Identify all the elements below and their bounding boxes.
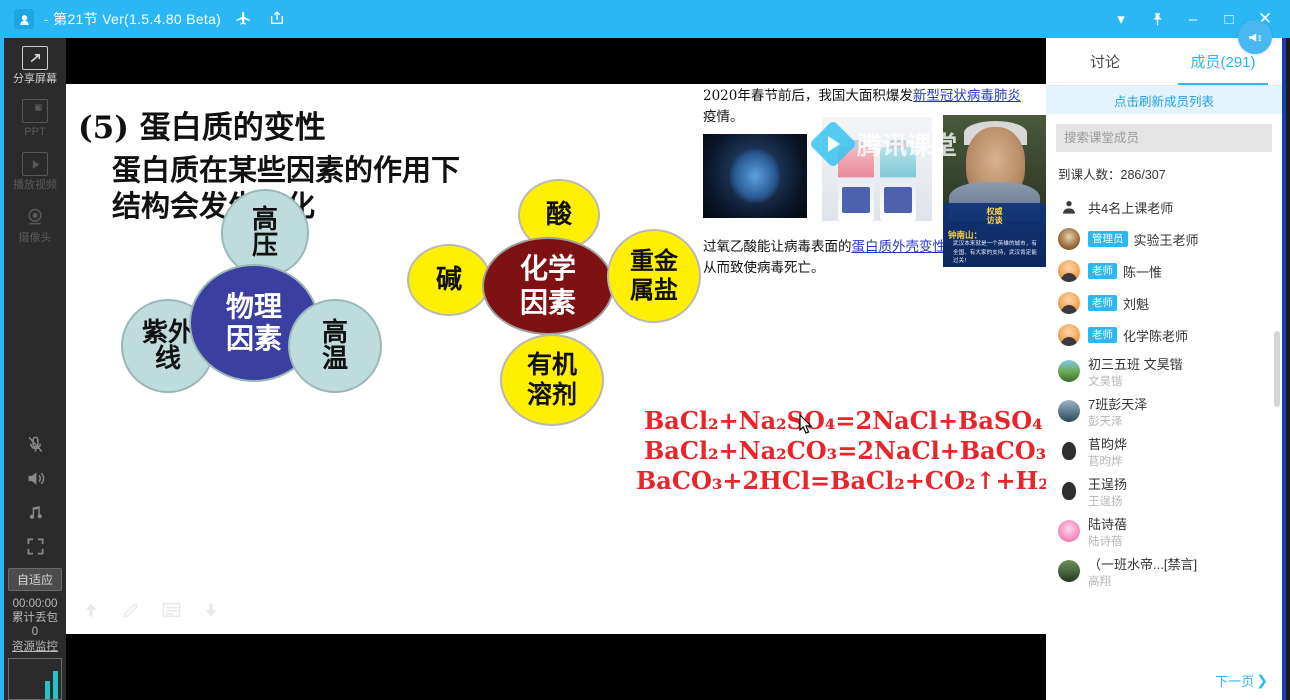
member-name: 初三五班 文昊锴 xyxy=(1088,354,1183,373)
next-page-button[interactable]: 下一页 ❯ xyxy=(1046,660,1282,700)
slide-subtitle-line1: 蛋白质在某些因素的作用下 xyxy=(112,152,582,188)
pin-icon[interactable] xyxy=(1140,0,1174,38)
resource-monitor-label[interactable]: 资源监控 xyxy=(2,640,68,654)
zhong-nanshan-portrait-image: 权威 访谈 钟南山： 武汉本来就是一个英雄的城市，有全国、有大家的支持，武汉肯定… xyxy=(943,115,1046,267)
portrait-caption-banner: 权威 访谈 钟南山： 武汉本来就是一个英雄的城市，有全国、有大家的支持，武汉肯定… xyxy=(943,203,1046,267)
bubble-chemical-factors: 化学 因素 xyxy=(482,237,614,335)
tab-members[interactable]: 成员(291) xyxy=(1164,38,1282,85)
presentation-stage: (5) 蛋白质的变性 蛋白质在某些因素的作用下 结构会发生变化 高 压 紫外 线… xyxy=(66,38,1046,700)
news-line3-link: 蛋白质外壳变性 xyxy=(852,239,947,255)
minimize-button[interactable]: – xyxy=(1176,0,1210,38)
member-list-scrollbar[interactable] xyxy=(1274,191,1280,660)
equation-1: BaCl₂+Na₂SO₄=2NaCl+BaSO₄↓ xyxy=(644,406,1046,435)
avatar xyxy=(1058,360,1080,382)
member-name: 陆诗蓓 xyxy=(1088,514,1127,533)
next-slide-icon[interactable] xyxy=(200,600,222,620)
airplane-icon[interactable] xyxy=(231,9,255,29)
connection-stats: 00:00:00 累计丢包 0 资源监控 xyxy=(2,597,68,657)
list-icon[interactable] xyxy=(160,600,182,620)
bubble-high-temperature: 高 温 xyxy=(288,299,382,393)
window-title: - 第21节 Ver(1.5.4.80 Beta) xyxy=(44,9,221,29)
list-item[interactable]: 初三五班 文昊锴 文昊锴 xyxy=(1058,351,1276,391)
slide-title: (5) 蛋白质的变性 xyxy=(78,102,326,147)
attendance-value: 286/307 xyxy=(1121,168,1166,182)
search-input[interactable] xyxy=(1056,124,1272,152)
member-realname: 王逞扬 xyxy=(1088,493,1127,509)
list-item[interactable]: 老师 陈一惟 xyxy=(1058,255,1276,287)
right-panel: 讨论 成员(291) 点击刷新成员列表 到课人数：286/307 共4名上课老师… xyxy=(1046,38,1286,700)
member-name: 刘魁 xyxy=(1123,294,1149,313)
member-realname: 文昊锴 xyxy=(1088,373,1183,389)
scrollbar-thumb[interactable] xyxy=(1274,331,1280,407)
equation-3: BaCO₃+2HCl=BaCl₂+CO₂↑+H₂O xyxy=(636,466,1046,495)
speaker-icon[interactable] xyxy=(2,462,68,496)
list-item[interactable]: 7班彭天泽 彭天泽 xyxy=(1058,391,1276,431)
next-page-label: 下一页 xyxy=(1215,671,1254,690)
tool-play-video-label: 播放视频 xyxy=(13,179,57,191)
member-name: 苢昀烨 xyxy=(1088,434,1127,453)
avatar xyxy=(1058,260,1080,282)
bubble-base: 碱 xyxy=(407,244,491,316)
resource-monitor-graph xyxy=(8,658,62,700)
avatar xyxy=(1058,324,1080,346)
tab-discussion[interactable]: 讨论 xyxy=(1046,38,1164,85)
status-badge: 管理员 xyxy=(1088,231,1128,247)
tool-share-screen[interactable]: 分享屏幕 xyxy=(2,38,68,91)
news-line1-link: 新型冠状病毒肺炎 xyxy=(913,88,1021,104)
teacher-group-row[interactable]: 共4名上课老师 xyxy=(1058,191,1276,223)
list-item[interactable]: 老师 化学陈老师 xyxy=(1058,319,1276,351)
chevron-down-icon[interactable]: ▾ xyxy=(1104,0,1138,38)
member-name: 7班彭天泽 xyxy=(1088,394,1147,413)
member-name: （一班水帝...[禁言] xyxy=(1088,554,1197,573)
member-list[interactable]: 共4名上课老师 管理员 实验王老师 老师 陈一惟 老师 xyxy=(1046,191,1282,660)
fullscreen-icon[interactable] xyxy=(2,530,68,564)
lungs-illustration-image xyxy=(703,134,807,218)
disinfectant-bottles-image xyxy=(822,117,932,221)
avatar xyxy=(1058,292,1080,314)
status-badge: 老师 xyxy=(1088,295,1117,311)
avatar xyxy=(1058,400,1080,422)
panel-tabs: 讨论 成员(291) xyxy=(1046,38,1282,86)
pen-icon[interactable] xyxy=(120,600,142,620)
avatar xyxy=(1058,560,1080,582)
member-name: 化学陈老师 xyxy=(1123,326,1188,345)
share-screen-icon xyxy=(22,46,48,70)
play-video-icon xyxy=(22,152,48,176)
attendance-count: 到课人数：286/307 xyxy=(1046,152,1282,191)
bubble-organic-solvent: 有机 溶剂 xyxy=(500,334,604,426)
session-timer: 00:00:00 xyxy=(2,597,68,611)
avatar xyxy=(1058,228,1080,250)
tool-ppt-label: PPT xyxy=(24,126,45,138)
tool-ppt[interactable]: PPT xyxy=(2,91,68,144)
list-item[interactable]: 苢昀烨 苢昀烨 xyxy=(1058,431,1276,471)
microphone-muted-icon[interactable] xyxy=(2,428,68,462)
equation-2: BaCl₂+Na₂CO₃=2NaCl+BaCO₃↓ xyxy=(644,436,1046,465)
slide-subtitle: 蛋白质在某些因素的作用下 结构会发生变化 xyxy=(112,152,582,225)
monitor-bar xyxy=(45,681,50,699)
slide-subtitle-line2: 结构会发生变化 xyxy=(112,188,582,224)
list-item[interactable]: 陆诗蓓 陆诗蓓 xyxy=(1058,511,1276,551)
tool-webcam-label: 摄像头 xyxy=(19,232,52,244)
list-item[interactable]: （一班水帝...[禁言] 高翔 xyxy=(1058,551,1276,591)
member-realname: 高翔 xyxy=(1088,573,1197,589)
tool-share-screen-label: 分享屏幕 xyxy=(13,73,57,85)
share-export-icon[interactable] xyxy=(265,10,289,29)
member-name: 王逞扬 xyxy=(1088,474,1127,493)
list-item[interactable]: 老师 刘魁 xyxy=(1058,287,1276,319)
webcam-icon xyxy=(22,205,48,229)
bubble-heavy-metal-salt: 重金 属盐 xyxy=(607,229,701,323)
app-window: - 第21节 Ver(1.5.4.80 Beta) ▾ – □ ✕ xyxy=(0,0,1290,700)
interview-badge-label: 权威 访谈 xyxy=(987,207,1003,225)
teacher-group-label: 共4名上课老师 xyxy=(1088,198,1173,217)
member-realname: 陆诗蓓 xyxy=(1088,533,1127,549)
packet-loss-value: 0 xyxy=(2,625,68,639)
avatar xyxy=(1058,520,1080,542)
ppt-icon xyxy=(22,99,48,123)
monitor-bar xyxy=(53,671,58,699)
tool-webcam[interactable]: 摄像头 xyxy=(2,197,68,250)
tool-play-video[interactable]: 播放视频 xyxy=(2,144,68,197)
list-item[interactable]: 王逞扬 王逞扬 xyxy=(1058,471,1276,511)
bottle-left xyxy=(838,147,874,221)
refresh-member-list-button[interactable]: 点击刷新成员列表 xyxy=(1046,86,1282,114)
bubble-high-pressure: 高 压 xyxy=(221,189,309,277)
portrait-quote: 武汉本来就是一个英雄的城市，有全国、有大家的支持，武汉肯定能过关! xyxy=(953,240,1042,265)
adaptive-mode-button[interactable]: 自适应 xyxy=(8,568,62,591)
avatar xyxy=(1058,440,1080,462)
member-name: 实验王老师 xyxy=(1134,230,1199,249)
news-line3-pre: 过氧乙酸能让病毒表面的 xyxy=(703,239,852,255)
chevron-right-icon: ❯ xyxy=(1256,672,1268,689)
slide-toolbar xyxy=(66,586,1046,634)
app-logo-icon xyxy=(14,9,34,29)
status-badge: 老师 xyxy=(1088,327,1117,343)
music-note-icon[interactable] xyxy=(2,496,68,530)
member-name: 陈一惟 xyxy=(1123,262,1162,281)
slide-canvas[interactable]: (5) 蛋白质的变性 蛋白质在某些因素的作用下 结构会发生变化 高 压 紫外 线… xyxy=(66,84,1046,634)
member-realname: 彭天泽 xyxy=(1088,413,1147,429)
title-bar-left: - 第21节 Ver(1.5.4.80 Beta) xyxy=(0,9,289,29)
member-realname: 苢昀烨 xyxy=(1088,453,1127,469)
avatar xyxy=(1058,480,1080,502)
list-item[interactable]: 管理员 实验王老师 xyxy=(1058,223,1276,255)
attendance-label: 到课人数： xyxy=(1058,168,1121,182)
person-group-icon xyxy=(1058,196,1080,218)
bottle-right xyxy=(880,147,916,221)
left-toolbar: 分享屏幕 PPT 播放视频 xyxy=(0,38,66,700)
news-line1-pre: 2020年春节前后，我国大面积爆发 xyxy=(703,88,913,104)
packet-loss-label: 累计丢包 xyxy=(2,611,68,625)
prev-slide-icon[interactable] xyxy=(80,600,102,620)
status-badge: 老师 xyxy=(1088,263,1117,279)
title-bar: - 第21节 Ver(1.5.4.80 Beta) ▾ – □ ✕ xyxy=(0,0,1290,38)
